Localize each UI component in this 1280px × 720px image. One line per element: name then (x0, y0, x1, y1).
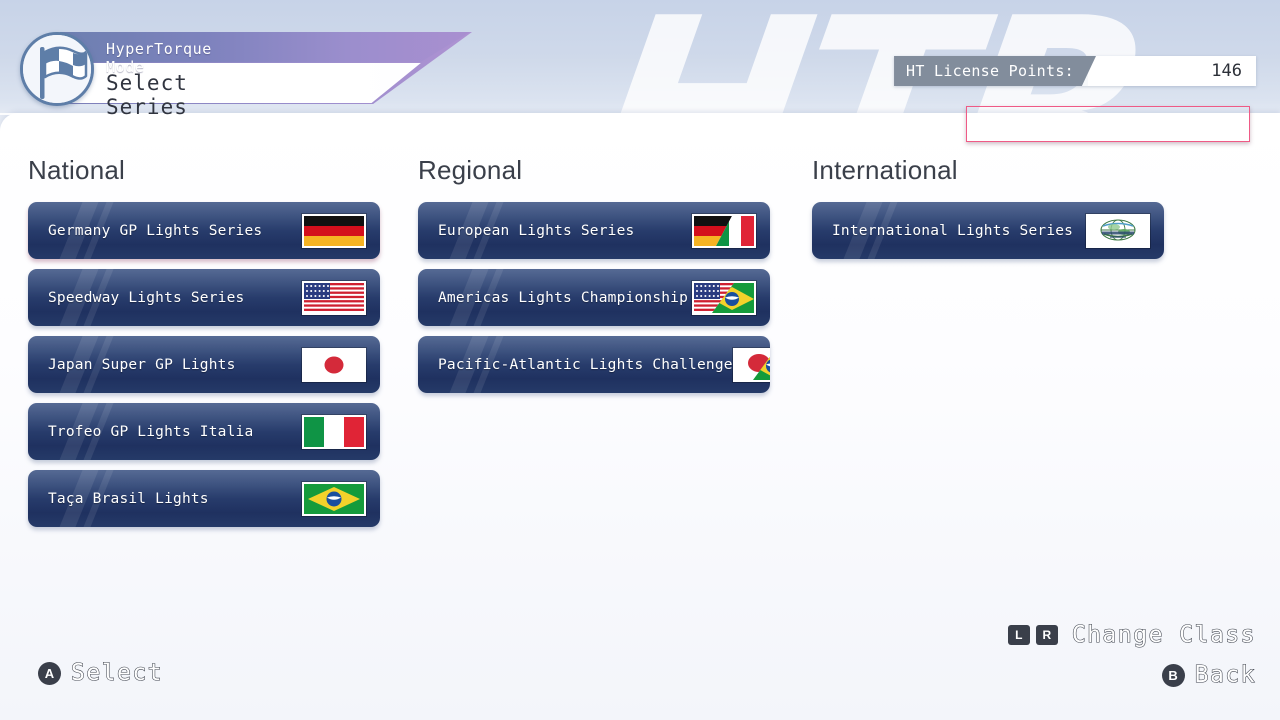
prompt-change-class[interactable]: L R Change Class (1008, 622, 1256, 648)
column-title-national: National (28, 155, 380, 186)
usa-flag-icon (302, 281, 366, 315)
column-international: International International Lights Serie… (812, 155, 1164, 269)
series-list-national: Germany GP Lights SeriesSpeedway Lights … (28, 202, 380, 527)
prompt-change-class-label: Change Class (1072, 622, 1256, 648)
brazil-flag-icon (302, 482, 366, 516)
series-label: Japan Super GP Lights (28, 357, 302, 373)
germany-flag-icon (302, 214, 366, 248)
a-button-icon: A (38, 662, 61, 685)
series-row[interactable]: Germany GP Lights Series (28, 202, 380, 259)
checkered-flag-icon (20, 32, 94, 106)
column-national: National Germany GP Lights SeriesSpeedwa… (28, 155, 380, 537)
class-chip[interactable]: GP Lights (966, 106, 1250, 142)
series-label: Speedway Lights Series (28, 290, 302, 306)
b-button-icon: B (1162, 664, 1185, 687)
series-row[interactable]: Japan Super GP Lights (28, 336, 380, 393)
prompt-select-label: Select (71, 660, 163, 686)
usa-brazil-flag-icon (692, 281, 756, 315)
column-regional: Regional European Lights Series Americas… (418, 155, 770, 403)
r-button-icon: R (1036, 625, 1058, 645)
japan-flag-icon (302, 348, 366, 382)
ht-license-points: HT License Points: 146 (894, 56, 1256, 86)
prompt-back[interactable]: B Back (1162, 662, 1256, 688)
ht-license-points-label: HT License Points: (894, 56, 1096, 86)
column-title-regional: Regional (418, 155, 770, 186)
series-row[interactable]: Americas Lights Championship (418, 269, 770, 326)
series-label: Germany GP Lights Series (28, 223, 302, 239)
italy-flag-icon (302, 415, 366, 449)
game-screen: HTR HyperTorque Mode Select Series (0, 0, 1280, 720)
series-label: Trofeo GP Lights Italia (28, 424, 302, 440)
prompt-select[interactable]: A Select (38, 660, 163, 686)
series-label: Americas Lights Championship (418, 290, 692, 306)
series-label: European Lights Series (418, 223, 692, 239)
l-button-icon: L (1008, 625, 1030, 645)
page-title: Select Series (106, 71, 188, 119)
series-list-international: International Lights Series (812, 202, 1164, 259)
prompt-back-label: Back (1195, 662, 1256, 688)
series-list-regional: European Lights Series Americas Lights C… (418, 202, 770, 393)
series-row[interactable]: Taça Brasil Lights (28, 470, 380, 527)
germany-italy-flag-icon (692, 214, 756, 248)
series-row[interactable]: European Lights Series (418, 202, 770, 259)
series-label: Pacific-Atlantic Lights Challenge (418, 357, 733, 373)
series-row[interactable]: Pacific-Atlantic Lights Challenge (418, 336, 770, 393)
column-title-international: International (812, 155, 1164, 186)
lr-buttons: L R (1008, 625, 1058, 645)
series-row[interactable]: International Lights Series (812, 202, 1164, 259)
series-row[interactable]: Speedway Lights Series (28, 269, 380, 326)
ht-license-points-value: 146 (1088, 56, 1256, 86)
japan-brazil-flag-icon (733, 348, 770, 382)
world-emblem-flag-icon (1086, 214, 1150, 248)
series-row[interactable]: Trofeo GP Lights Italia (28, 403, 380, 460)
series-label: International Lights Series (812, 223, 1086, 239)
series-label: Taça Brasil Lights (28, 491, 302, 507)
